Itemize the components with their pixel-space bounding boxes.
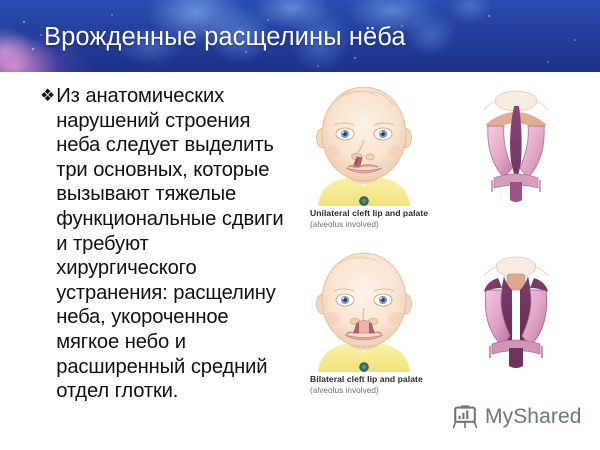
presentation-board-icon (452, 404, 478, 430)
caption-main-text: Unilateral cleft lip and palate (310, 208, 560, 219)
palate-unilateral-illustration (464, 82, 568, 206)
infant-face-unilateral-svg (312, 80, 416, 206)
palate-bilateral-illustration (464, 248, 568, 372)
caption-main-text: Bilateral cleft lip and palate (310, 374, 560, 385)
watermark-label: MyShared (485, 405, 582, 429)
figure-unilateral: Unilateral cleft lip and palate (alveolu… (296, 76, 600, 242)
slide-canvas: Врожденные расщелины нёба ❖ Из анатомиче… (0, 0, 600, 450)
bullet-item: ❖ Из анатомических нарушений строения не… (40, 84, 290, 404)
myshared-watermark: MyShared (452, 404, 582, 430)
infant-face-bilateral-svg (312, 246, 416, 372)
caption-sub-text: (alveolus involved) (310, 219, 560, 230)
page-title: Врожденные расщелины нёба (44, 22, 406, 52)
caption-sub-text: (alveolus involved) (310, 385, 560, 396)
infant-face-unilateral-illustration (312, 80, 416, 206)
palate-unilateral-svg (464, 82, 568, 206)
bullet-paragraph: Из анатомических нарушений строения неба… (56, 84, 290, 404)
slide-header: Врожденные расщелины нёба (0, 0, 600, 72)
infant-face-bilateral-illustration (312, 246, 416, 372)
diamond-bullet-icon: ❖ (40, 84, 55, 109)
figure-bilateral: Bilateral cleft lip and palate (alveolus… (296, 242, 600, 408)
figure-unilateral-caption: Unilateral cleft lip and palate (alveolu… (310, 208, 560, 230)
figure-panel: Unilateral cleft lip and palate (alveolu… (296, 76, 600, 408)
palate-bilateral-svg (464, 248, 568, 372)
figure-bilateral-caption: Bilateral cleft lip and palate (alveolus… (310, 374, 560, 396)
body-text-column: ❖ Из анатомических нарушений строения не… (40, 84, 290, 404)
